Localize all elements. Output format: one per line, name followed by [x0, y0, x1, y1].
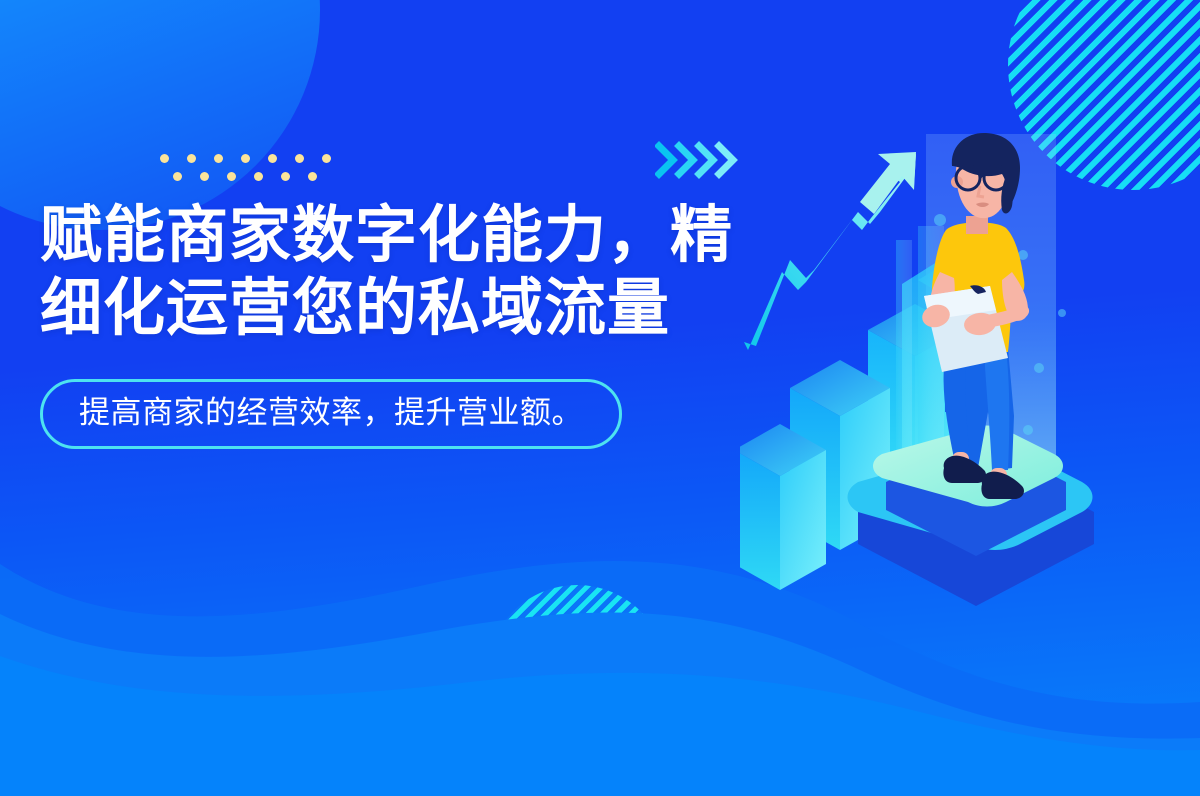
neck — [966, 216, 988, 234]
copy-block: 赋能商家数字化能力，精 细化运营您的私域流量 提高商家的经营效率，提升营业额。 — [40, 200, 770, 449]
businessman-growth-chart-icon — [740, 120, 1200, 620]
page-title: 赋能商家数字化能力，精 细化运营您的私域流量 — [40, 200, 770, 345]
dot — [160, 154, 169, 163]
striped-circle-icon — [487, 585, 667, 765]
dot — [322, 154, 331, 163]
growth-arrow-head — [860, 152, 916, 214]
dot — [227, 172, 236, 181]
dot — [173, 172, 182, 181]
promo-banner: 赋能商家数字化能力，精 细化运营您的私域流量 提高商家的经营效率，提升营业额。 — [0, 0, 1200, 796]
gradient-circle-icon — [0, 0, 320, 230]
dot — [268, 154, 277, 163]
dot — [308, 172, 317, 181]
dot — [241, 154, 250, 163]
dot — [281, 172, 290, 181]
dot — [200, 172, 209, 181]
dot — [187, 154, 196, 163]
hero-illustration — [740, 120, 1200, 620]
dot — [254, 172, 263, 181]
subtitle-pill: 提高商家的经营效率，提升营业额。 — [40, 379, 622, 449]
yellow-dot-grid — [160, 152, 330, 186]
dot — [295, 154, 304, 163]
dot — [214, 154, 223, 163]
